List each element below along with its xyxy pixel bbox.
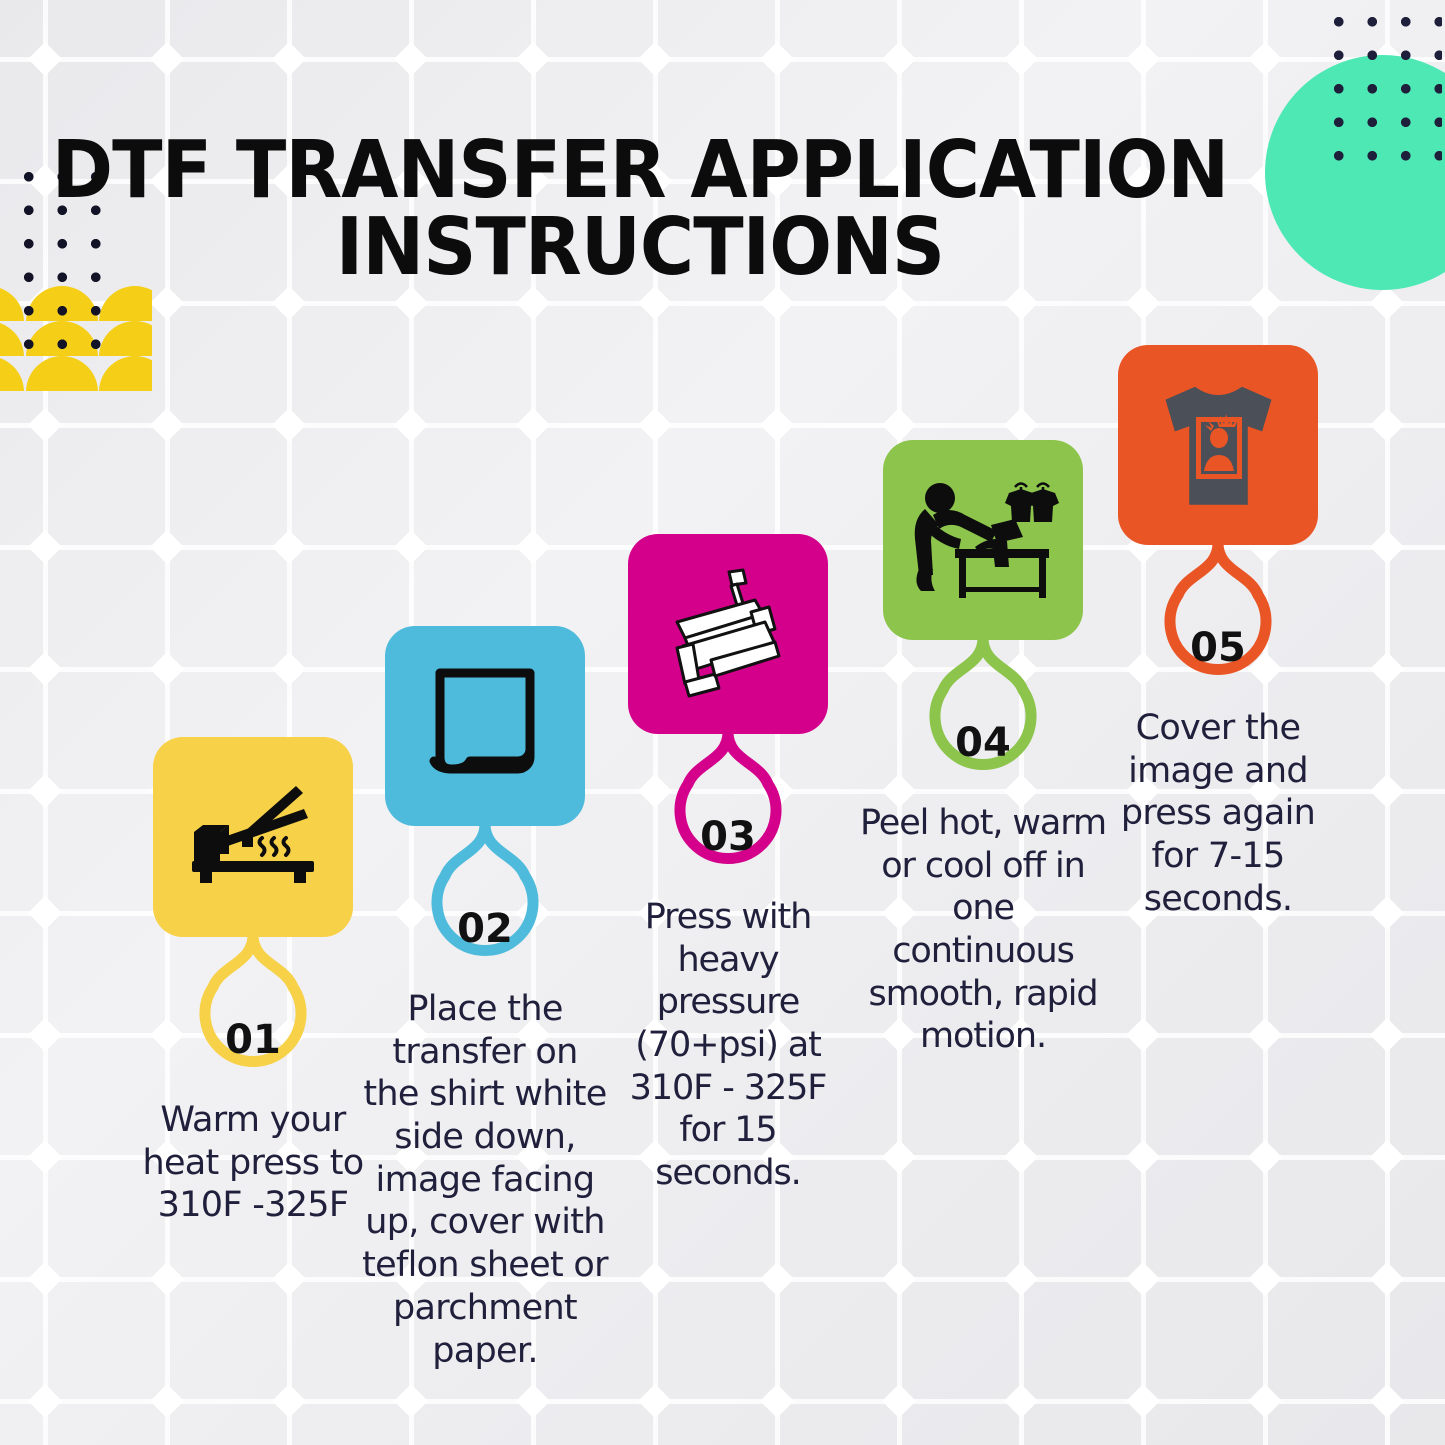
step-03-icon-card [628,534,828,734]
step-03-description: Press with heavy pressure (70+psi) at 31… [603,896,853,1195]
peel-transfer-person-icon [903,473,1063,608]
step-05-icon-card [1118,345,1318,545]
step-03-number: 03 [603,814,853,860]
step-04-description: Peel hot, warm or cool off in one contin… [858,802,1108,1058]
step-02: 02 Place the transfer on the shirt white… [360,626,610,1372]
step-03-connector: 03 [603,732,853,880]
step-05-number: 05 [1093,625,1343,671]
step-02-icon-card [385,626,585,826]
step-02-number: 02 [360,906,610,952]
step-04-icon-card [883,440,1083,640]
heat-press-machine-icon [653,564,803,704]
step-05: 05 Cover the image and press again for 7… [1093,345,1343,920]
step-04-number: 04 [858,720,1108,766]
step-02-description: Place the transfer on the shirt white si… [360,988,610,1372]
heat-press-open-icon [178,777,328,897]
step-01-number: 01 [128,1017,378,1063]
steps-container: 01 Warm your heat press to 310F -325F 02… [0,0,1445,1445]
step-02-connector: 02 [360,824,610,972]
transfer-sheet-icon [420,661,550,791]
step-01: 01 Warm your heat press to 310F -325F [128,737,378,1227]
step-04-connector: 04 [858,638,1108,786]
step-03: 03 Press with heavy pressure (70+psi) at… [603,534,853,1195]
step-01-icon-card [153,737,353,937]
step-01-description: Warm your heat press to 310F -325F [128,1099,378,1227]
step-05-description: Cover the image and press again for 7-15… [1093,707,1343,920]
printed-tshirt-icon [1141,375,1296,515]
step-04: 04 Peel hot, warm or cool off in one con… [858,440,1108,1058]
step-01-connector: 01 [128,935,378,1083]
step-05-connector: 05 [1093,543,1343,691]
